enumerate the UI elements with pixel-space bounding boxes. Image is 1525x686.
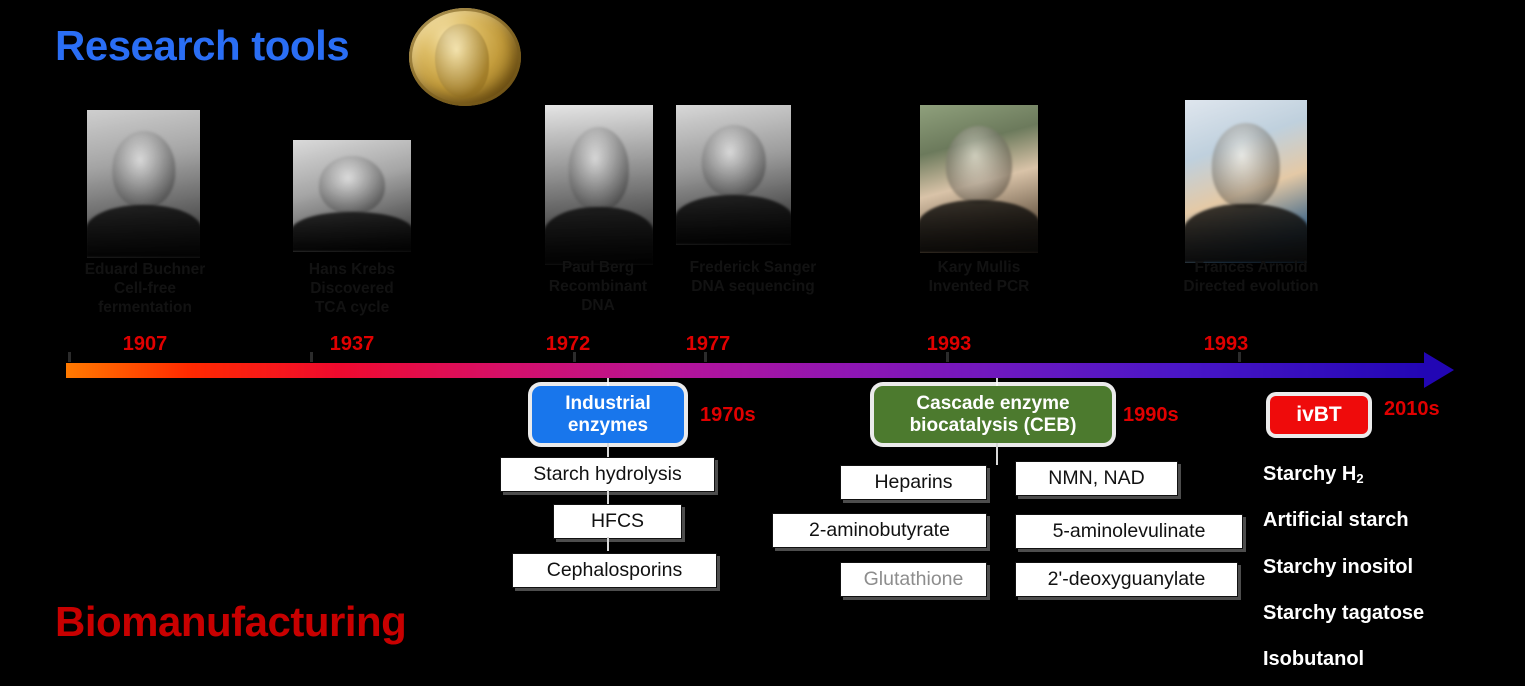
scientist-achievement-line1: Discovered (262, 279, 442, 298)
era-label-line1: Industrial (565, 393, 651, 415)
scientist-name: Frances Arnold (1156, 258, 1346, 277)
era-box-industrial-enzymes[interactable]: Industrial enzymes (532, 386, 684, 443)
year-eduard-buchner: 1907 (55, 333, 235, 356)
year-frederick-sanger: 1977 (648, 333, 768, 356)
era-label-line2: biocatalysis (CEB) (910, 415, 1077, 437)
ivbt-product-starchy-h2: Starchy H2 (1263, 463, 1364, 486)
scientist-achievement-line2: fermentation (55, 298, 235, 317)
product-box-5-aminolevulinate[interactable]: 5-aminolevulinate (1015, 514, 1243, 549)
subscript: 2 (1356, 471, 1363, 486)
scientist-name: Kary Mullis (889, 258, 1069, 277)
research-tools-title: Research tools (55, 22, 349, 70)
portrait-frederick-sanger (676, 105, 791, 245)
product-box-hfcs[interactable]: HFCS (553, 504, 682, 539)
biomanufacturing-title: Biomanufacturing (55, 598, 406, 646)
caption-kary-mullis: Kary Mullis Invented PCR (889, 258, 1069, 296)
year-frances-arnold: 1993 (1166, 333, 1286, 356)
scientist-achievement-line2: DNA (508, 296, 688, 315)
ivbt-product-starchy-inositol: Starchy inositol (1263, 556, 1413, 579)
timeline-tick (310, 352, 313, 362)
caption-paul-berg: Paul Berg Recombinant DNA (508, 258, 688, 315)
product-stem (607, 443, 609, 457)
product-box-cephalosporins[interactable]: Cephalosporins (512, 553, 717, 588)
portrait-kary-mullis (920, 105, 1038, 253)
year-hans-krebs: 1937 (262, 333, 442, 356)
year-kary-mullis: 1993 (889, 333, 1009, 356)
portrait-hans-krebs (293, 140, 411, 252)
product-box-heparins[interactable]: Heparins (840, 465, 987, 500)
scientist-name: Frederick Sanger (663, 258, 843, 277)
year-paul-berg: 1972 (508, 333, 628, 356)
era-year-1990s: 1990s (1123, 404, 1179, 427)
portrait-paul-berg (545, 105, 653, 265)
ivbt-product-isobutanol: Isobutanol (1263, 648, 1364, 671)
scientist-achievement-line1: DNA sequencing (663, 277, 843, 296)
scientist-name: Hans Krebs (262, 260, 442, 279)
ivbt-product-label: Starchy H (1263, 463, 1356, 485)
era-box-ivbt[interactable]: ivBT (1270, 396, 1368, 434)
scientist-achievement-line1: Cell-free (55, 279, 235, 298)
product-box-2-aminobutyrate[interactable]: 2-aminobutyrate (772, 513, 987, 548)
scientist-achievement-line2: TCA cycle (262, 298, 442, 317)
product-box-starch-hydrolysis[interactable]: Starch hydrolysis (500, 457, 715, 492)
product-box-glutathione[interactable]: Glutathione (840, 562, 987, 597)
product-box-nmn-nad[interactable]: NMN, NAD (1015, 461, 1178, 496)
portrait-eduard-buchner (87, 110, 200, 258)
nobel-prize-medal-icon (409, 8, 521, 106)
scientist-achievement-line1: Recombinant (508, 277, 688, 296)
timeline-tick (573, 352, 576, 362)
era-box-cascade-enzyme-biocatalysis[interactable]: Cascade enzyme biocatalysis (CEB) (874, 386, 1112, 443)
timeline-arrow-icon (1424, 352, 1454, 388)
era-year-1970s: 1970s (700, 404, 756, 427)
caption-frances-arnold: Frances Arnold Directed evolution (1156, 258, 1346, 296)
scientist-achievement-line1: Invented PCR (889, 277, 1069, 296)
timeline-tick (946, 352, 949, 362)
caption-eduard-buchner: Eduard Buchner Cell-free fermentation (55, 260, 235, 317)
product-stem (996, 443, 998, 465)
era-label-line1: Cascade enzyme (910, 393, 1077, 415)
timeline-bar (66, 363, 1426, 378)
product-box-2-deoxyguanylate[interactable]: 2'-deoxyguanylate (1015, 562, 1238, 597)
era-label-line2: enzymes (565, 415, 651, 437)
caption-frederick-sanger: Frederick Sanger DNA sequencing (663, 258, 843, 296)
timeline-tick (68, 352, 71, 362)
scientist-achievement-line1: Directed evolution (1156, 277, 1346, 296)
ivbt-product-starchy-tagatose: Starchy tagatose (1263, 602, 1424, 625)
ivbt-product-artificial-starch: Artificial starch (1263, 509, 1409, 532)
scientist-name: Eduard Buchner (55, 260, 235, 279)
timeline-tick (1238, 352, 1241, 362)
caption-hans-krebs: Hans Krebs Discovered TCA cycle (262, 260, 442, 317)
portrait-frances-arnold (1185, 100, 1307, 263)
era-year-2010s: 2010s (1384, 398, 1440, 421)
era-label-line1: ivBT (1296, 404, 1342, 426)
product-stem (607, 490, 609, 504)
timeline-tick (704, 352, 707, 362)
product-stem (607, 537, 609, 551)
scientist-name: Paul Berg (508, 258, 688, 277)
